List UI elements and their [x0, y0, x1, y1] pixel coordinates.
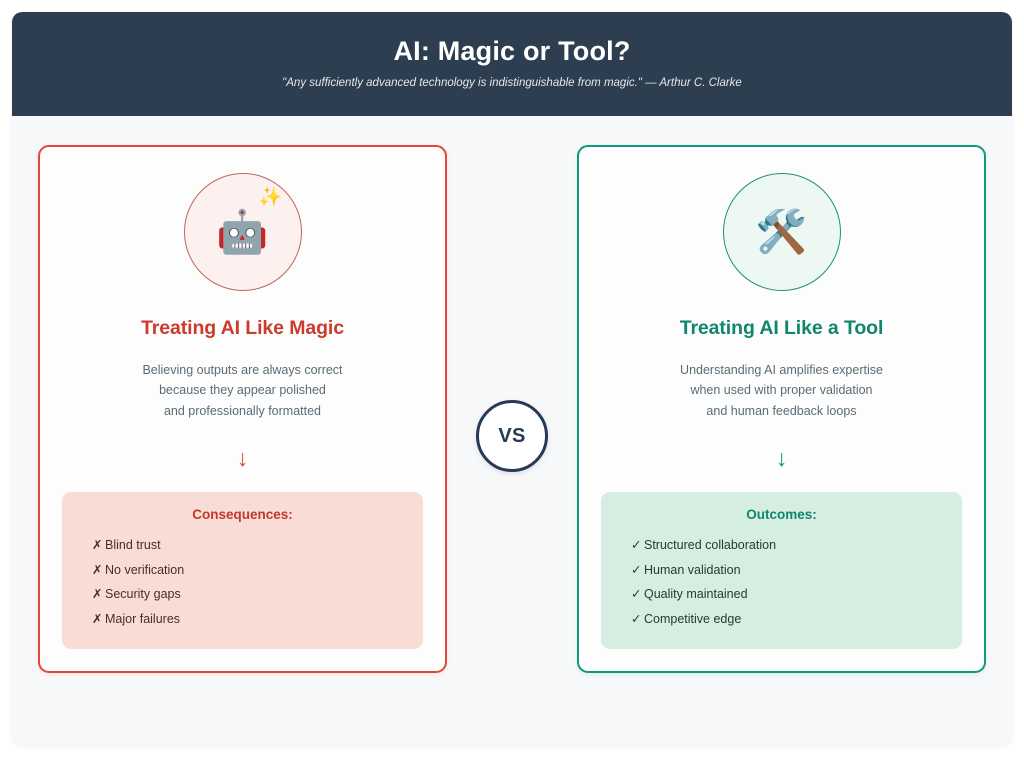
cross-mark-icon: ✗: [92, 588, 105, 601]
list-item: ✓ Quality maintained: [631, 582, 944, 607]
page-title: AI: Magic or Tool?: [393, 37, 630, 67]
magic-desc-line-3: and professionally formatted: [142, 401, 342, 421]
list-item: ✗ No verification: [92, 558, 405, 583]
list-item-label: No verification: [105, 564, 184, 577]
tool-down-arrow-icon: ↓: [776, 447, 788, 470]
page-header: AI: Magic or Tool? "Any sufficiently adv…: [12, 12, 1012, 116]
magic-desc-line-1: Believing outputs are always correct: [142, 360, 342, 380]
check-mark-icon: ✓: [631, 539, 644, 552]
list-item-label: Major failures: [105, 613, 180, 626]
check-mark-icon: ✓: [631, 588, 644, 601]
list-item-label: Competitive edge: [644, 613, 741, 626]
magic-card-title: Treating AI Like Magic: [141, 317, 344, 340]
vs-badge: VS: [476, 400, 548, 472]
cross-mark-icon: ✗: [92, 539, 105, 552]
magic-desc-line-2: because they appear polished: [142, 380, 342, 400]
magic-card-description: Believing outputs are always correct bec…: [142, 360, 342, 421]
list-item: ✓ Competitive edge: [631, 607, 944, 632]
cross-mark-icon: ✗: [92, 564, 105, 577]
list-item: ✓ Structured collaboration: [631, 533, 944, 558]
card-treating-ai-like-magic[interactable]: 🤖 ✨ Treating AI Like Magic Believing out…: [38, 145, 447, 673]
list-item: ✗ Security gaps: [92, 582, 405, 607]
consequences-heading: Consequences:: [80, 507, 405, 522]
list-item: ✗ Blind trust: [92, 533, 405, 558]
outcomes-list: ✓ Structured collaboration ✓ Human valid…: [619, 533, 944, 631]
comparison-section: 🤖 ✨ Treating AI Like Magic Believing out…: [12, 116, 1012, 745]
sparkles-icon: ✨: [259, 188, 283, 207]
hammer-and-wrench-icon: 🛠️: [755, 211, 807, 253]
tool-icon-badge: 🛠️: [723, 173, 841, 291]
tool-desc-line-3: and human feedback loops: [680, 401, 883, 421]
card-treating-ai-like-a-tool[interactable]: 🛠️ Treating AI Like a Tool Understanding…: [577, 145, 986, 673]
consequences-list: ✗ Blind trust ✗ No verification ✗ Securi…: [80, 533, 405, 631]
cross-mark-icon: ✗: [92, 613, 105, 626]
list-item-label: Quality maintained: [644, 588, 748, 601]
outcomes-heading: Outcomes:: [619, 507, 944, 522]
vs-badge-label: VS: [498, 425, 525, 448]
page-subtitle-quote: "Any sufficiently advanced technology is…: [282, 77, 742, 91]
consequences-box: Consequences: ✗ Blind trust ✗ No verific…: [62, 492, 423, 649]
magic-down-arrow-icon: ↓: [237, 447, 249, 470]
tool-desc-line-2: when used with proper validation: [680, 380, 883, 400]
list-item-label: Blind trust: [105, 539, 161, 552]
tool-card-title: Treating AI Like a Tool: [680, 317, 884, 340]
list-item: ✗ Major failures: [92, 607, 405, 632]
tool-desc-line-1: Understanding AI amplifies expertise: [680, 360, 883, 380]
list-item: ✓ Human validation: [631, 558, 944, 583]
tool-card-description: Understanding AI amplifies expertise whe…: [680, 360, 883, 421]
magic-icon-badge: 🤖 ✨: [184, 173, 302, 291]
list-item-label: Security gaps: [105, 588, 181, 601]
list-item-label: Structured collaboration: [644, 539, 776, 552]
outcomes-box: Outcomes: ✓ Structured collaboration ✓ H…: [601, 492, 962, 649]
check-mark-icon: ✓: [631, 564, 644, 577]
robot-face-icon: 🤖: [216, 211, 268, 253]
list-item-label: Human validation: [644, 564, 741, 577]
check-mark-icon: ✓: [631, 613, 644, 626]
infographic-page: AI: Magic or Tool? "Any sufficiently adv…: [12, 12, 1012, 745]
